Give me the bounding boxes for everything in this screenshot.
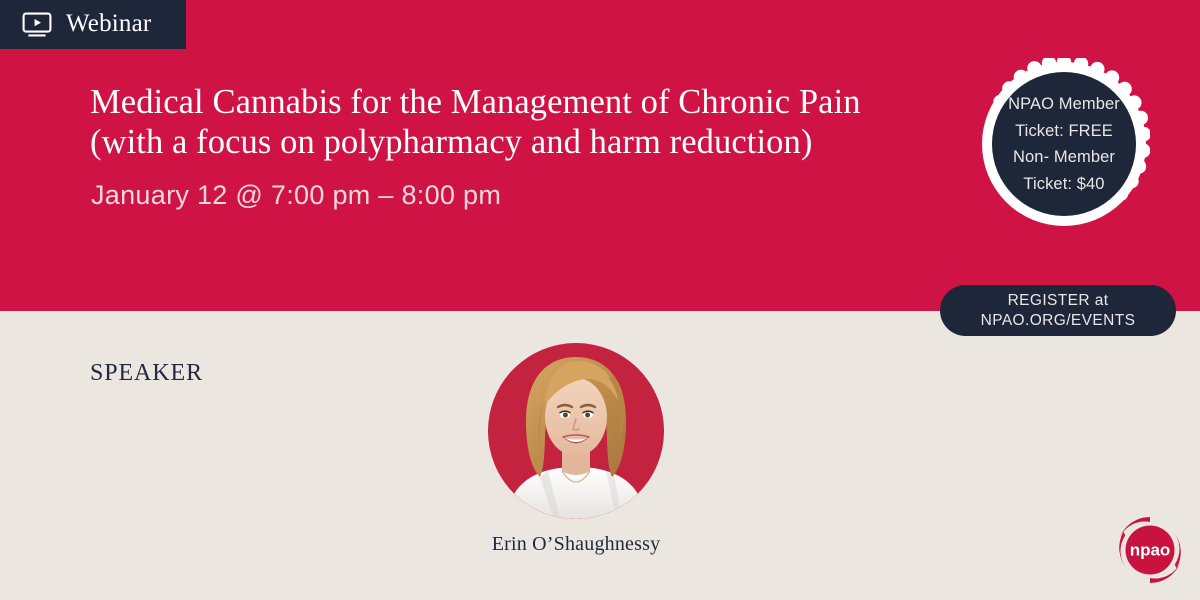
price-badge: NPAO Member Ticket: FREE Non- Member Tic… [978, 58, 1150, 230]
page-title-line-2: (with a focus on polypharmacy and harm r… [90, 122, 940, 162]
speaker-avatar [488, 343, 664, 519]
register-button[interactable]: REGISTER at NPAO.ORG/EVENTS [940, 285, 1176, 336]
speaker-name: Erin O’Shaughnessy [488, 533, 664, 556]
register-button-line-1: REGISTER at [1008, 291, 1109, 311]
price-line-3: Non- Member [1013, 144, 1115, 171]
webinar-badge-label: Webinar [66, 11, 151, 36]
speaker-portrait-illustration [488, 343, 664, 519]
webinar-badge: Webinar [0, 0, 186, 49]
monitor-play-icon [22, 12, 52, 38]
webinar-promo-poster: Webinar Medical Cannabis for the Managem… [0, 0, 1200, 600]
npao-logo: npao [1113, 513, 1187, 587]
page-title-line-1: Medical Cannabis for the Management of C… [90, 82, 940, 122]
npao-wordmark: npao [1130, 541, 1171, 560]
speaker-section-label: SPEAKER [90, 360, 203, 387]
event-datetime: January 12 @ 7:00 pm – 8:00 pm [91, 180, 501, 211]
price-badge-text: NPAO Member Ticket: FREE Non- Member Tic… [978, 58, 1150, 230]
price-line-2: Ticket: FREE [1015, 118, 1113, 145]
register-button-line-2: NPAO.ORG/EVENTS [981, 311, 1136, 331]
page-title: Medical Cannabis for the Management of C… [90, 82, 940, 162]
price-line-1: NPAO Member [1008, 91, 1120, 118]
price-line-4: Ticket: $40 [1023, 171, 1104, 198]
